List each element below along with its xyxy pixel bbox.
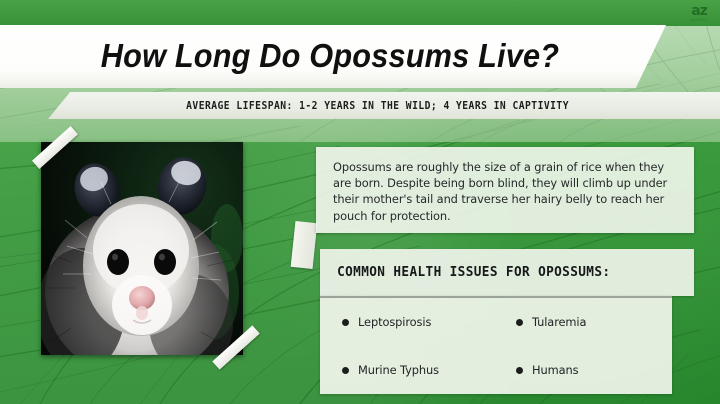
subtitle-text: AVERAGE LIFESPAN: 1-2 YEARS IN THE WILD;… (75, 92, 693, 119)
bullet-icon (342, 367, 349, 374)
page-title: How Long Do Opossums Live? (23, 28, 637, 84)
az-animals-logo[interactable]: az ANIMALS (684, 3, 714, 24)
issue-label: Murine Typhus (358, 363, 439, 377)
opossum-photo (41, 142, 243, 355)
issue-label: Tularemia (532, 315, 586, 329)
list-item: Leptospirosis (342, 298, 516, 346)
bullet-icon (516, 367, 523, 374)
issue-label: Humans (532, 363, 578, 377)
logo-subtext: ANIMALS (690, 18, 707, 23)
info-panel: Opossums are roughly the size of a grain… (316, 147, 694, 233)
list-item: Humans (516, 346, 672, 394)
bullet-icon (516, 319, 523, 326)
health-panel-body: Leptospirosis Tularemia Murine Typhus Hu… (320, 296, 672, 394)
top-green-strip (0, 0, 720, 26)
issue-label: Leptospirosis (358, 315, 431, 329)
opossum-photo-wrapper (41, 142, 243, 355)
infographic-canvas: az ANIMALS How Long Do Opossums Live? AV… (0, 0, 720, 404)
health-panel-heading: COMMON HEALTH ISSUES FOR OPOSSUMS: (320, 249, 675, 296)
bullet-icon (342, 319, 349, 326)
health-issues-list: Leptospirosis Tularemia Murine Typhus Hu… (320, 298, 672, 394)
list-item: Murine Typhus (342, 346, 516, 394)
logo-az-text: az (691, 5, 707, 18)
info-panel-body: Opossums are roughly the size of a grain… (316, 147, 694, 224)
health-panel-heading-box: COMMON HEALTH ISSUES FOR OPOSSUMS: (320, 249, 694, 296)
list-item: Tularemia (516, 298, 672, 346)
